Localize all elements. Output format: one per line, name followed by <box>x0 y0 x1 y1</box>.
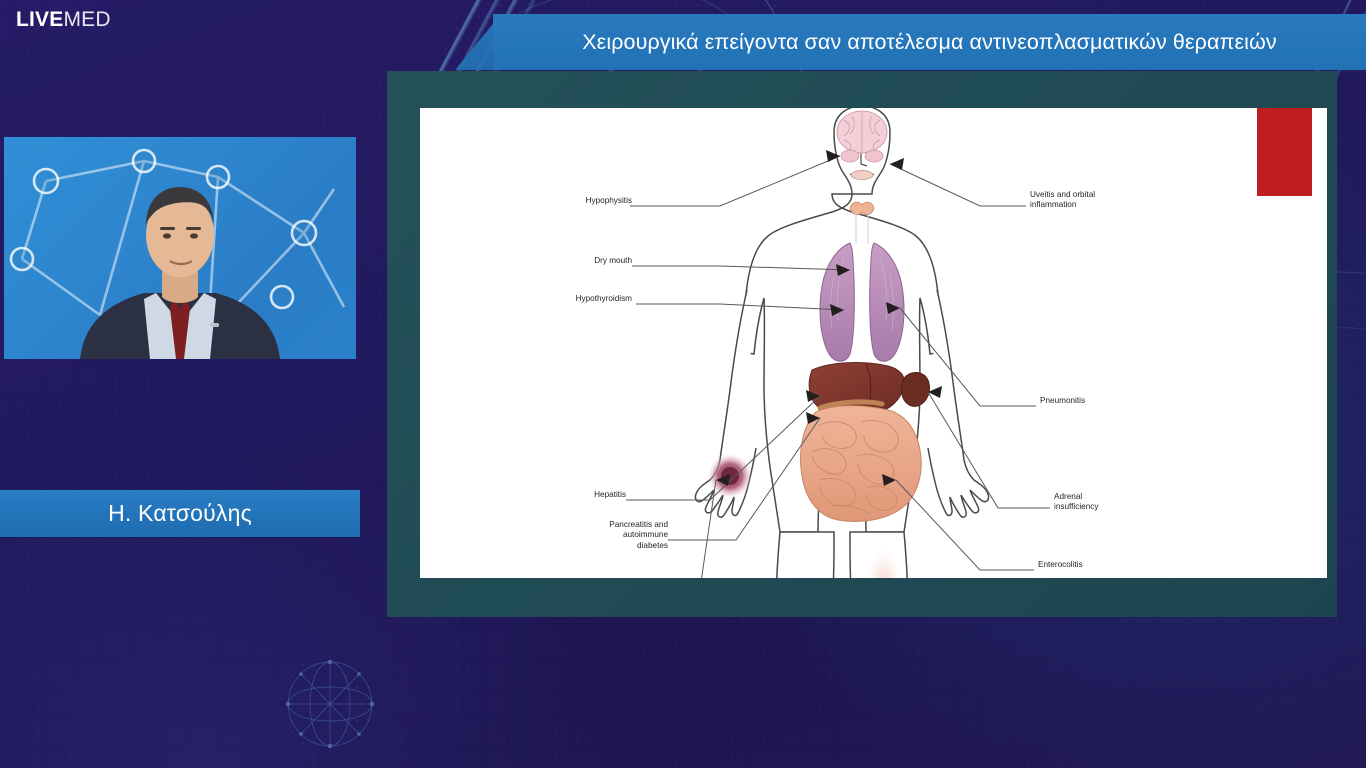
speaker-name: Η. Κατσούλης <box>108 500 252 527</box>
figure-label-dry-mouth: Dry mouth <box>482 256 632 266</box>
speaker-image <box>4 137 356 359</box>
figure-label-pancreatitis: Pancreatitis and autoimmune diabetes <box>472 520 668 551</box>
figure-label-pneumonitis: Pneumonitis <box>1040 396 1210 406</box>
logo-live-text: LIVE <box>16 8 63 31</box>
video-player-controls: 10 00:34 / 22:16 Διοργάνωση: <box>0 655 1366 768</box>
figure-label-enterocolitis: Enterocolitis <box>1038 560 1208 570</box>
presentation-title-banner: Χειρουργικά επείγοντα σαν αποτέλεσμα αντ… <box>493 14 1366 70</box>
speaker-video-feed[interactable] <box>4 137 356 359</box>
figure-label-adrenal-insufficiency: Adrenal insufficiency <box>1054 492 1224 513</box>
figure-label-hypophysitis: Hypophysitis <box>482 196 632 206</box>
logo-med-text: MED <box>63 8 110 31</box>
speaker-name-bar: Η. Κατσούλης <box>0 490 360 537</box>
speaker-video-card[interactable]: Η. Κατσούλης <box>0 134 360 404</box>
red-marker-block <box>1257 108 1312 196</box>
figure-label-hypothyroidism: Hypothyroidism <box>472 294 632 304</box>
figure-label-hepatitis: Hepatitis <box>482 490 626 500</box>
player-stage: LIVEMED Χειρουργικά επείγοντα σαν αποτέλ… <box>0 0 1366 768</box>
slide-content: Hypophysitis Dry mouth Hypothyroidism He… <box>420 108 1327 578</box>
figure-label-uveitis: Uveitis and orbital inflammation <box>1030 190 1220 211</box>
livemed-logo: LIVEMED <box>16 9 111 30</box>
slide-frame: Hypophysitis Dry mouth Hypothyroidism He… <box>387 71 1337 617</box>
page-title: Χειρουργικά επείγοντα σαν αποτέλεσμα αντ… <box>582 30 1277 55</box>
